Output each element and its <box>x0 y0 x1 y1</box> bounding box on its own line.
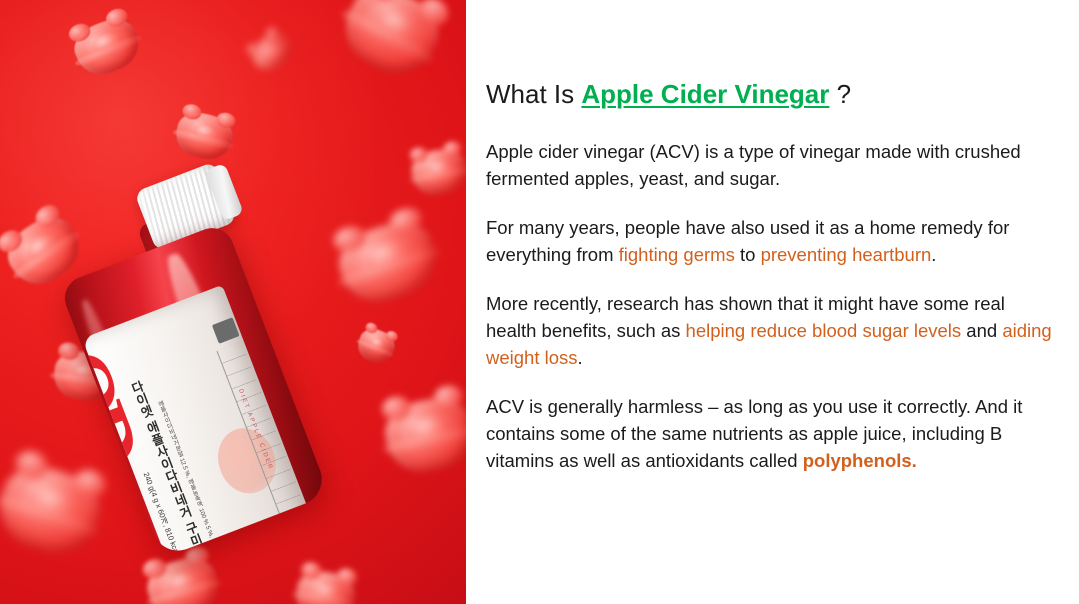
paragraph-home-remedy: For many years, people have also used it… <box>486 214 1056 268</box>
paragraph-safety-nutrients: ACV is generally harmless – as long as y… <box>486 393 1056 474</box>
bottle-label: QD DIET APPLE CIDER 다이엣 애플사이다비네거 구미 애플사이… <box>82 285 312 558</box>
text-run: ACV is generally harmless – as long as y… <box>486 396 1022 471</box>
gummy-bear <box>380 392 466 478</box>
gummy-bear <box>353 324 398 367</box>
highlighted-phrase-bold: polyphenols. <box>803 450 917 471</box>
gummy-bear <box>0 457 108 563</box>
text-run: . <box>578 347 583 368</box>
text-run: Apple cider vinegar (ACV) is a type of v… <box>486 141 1021 189</box>
highlighted-phrase: fighting germs <box>619 244 735 265</box>
title-highlight: Apple Cider Vinegar <box>581 79 829 109</box>
bottle-cap-top <box>204 163 244 221</box>
nutrition-facts-panel <box>217 342 307 520</box>
text-run: and <box>961 320 1002 341</box>
gummy-bear <box>292 567 357 604</box>
paragraph-definition: Apple cider vinegar (ACV) is a type of v… <box>486 138 1056 192</box>
title-suffix: ? <box>829 79 851 109</box>
slide-root: QD DIET APPLE CIDER 다이엣 애플사이다비네거 구미 애플사이… <box>0 0 1079 604</box>
gummy-bear <box>332 0 450 87</box>
text-run: . <box>931 244 936 265</box>
text-panel: What Is Apple Cider Vinegar ? Apple cide… <box>486 0 1061 604</box>
title-prefix: What Is <box>486 79 581 109</box>
gummy-bear <box>246 27 297 77</box>
gummy-bear <box>409 146 466 199</box>
gummy-bear <box>331 213 445 311</box>
gummy-bear <box>172 108 237 164</box>
text-run: to <box>735 244 761 265</box>
page-title: What Is Apple Cider Vinegar ? <box>486 80 851 109</box>
gummy-bear <box>142 551 225 604</box>
nutrition-panel-header <box>212 317 240 344</box>
highlighted-phrase: preventing heartburn <box>761 244 932 265</box>
gummy-bear <box>68 12 146 82</box>
product-photo: QD DIET APPLE CIDER 다이엣 애플사이다비네거 구미 애플사이… <box>0 0 466 604</box>
paragraph-health-benefits: More recently, research has shown that i… <box>486 290 1056 371</box>
body-copy: Apple cider vinegar (ACV) is a type of v… <box>486 138 1056 474</box>
highlighted-phrase: helping reduce blood sugar levels <box>686 320 962 341</box>
